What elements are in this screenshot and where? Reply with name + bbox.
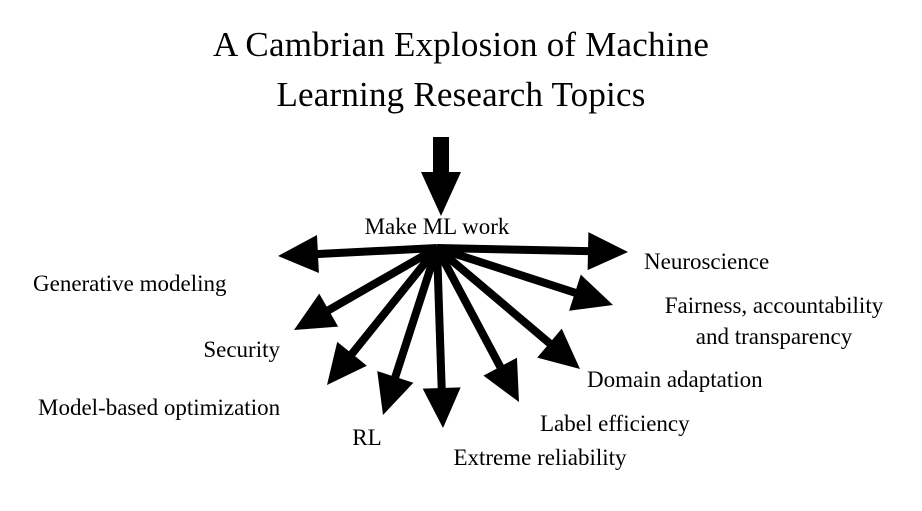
- page-title: A Cambrian Explosion of Machine Learning…: [0, 20, 922, 120]
- node-label-neuroscience: Neuroscience: [644, 246, 814, 277]
- down-arrow-into-hub: [421, 137, 461, 216]
- node-label-label-efficiency: Label efficiency: [540, 408, 720, 439]
- node-label-generative-modeling: Generative modeling: [33, 268, 265, 299]
- arrow-to-domain-adaptation: [434, 245, 580, 369]
- node-label-security: Security: [150, 334, 280, 365]
- node-label-fairness-accountability-transparency: Fairness, accountability and transparenc…: [628, 290, 920, 352]
- node-label-rl: RL: [323, 422, 411, 453]
- node-label-model-based-optimization: Model-based optimization: [38, 392, 334, 423]
- node-label-domain-adaptation: Domain adaptation: [587, 364, 813, 395]
- center-node-label: Make ML work: [287, 212, 587, 242]
- slide-canvas: A Cambrian Explosion of Machine Learning…: [0, 0, 922, 511]
- arrow-to-model-based-optimization: [327, 246, 440, 386]
- node-label-extreme-reliability: Extreme reliability: [432, 442, 648, 473]
